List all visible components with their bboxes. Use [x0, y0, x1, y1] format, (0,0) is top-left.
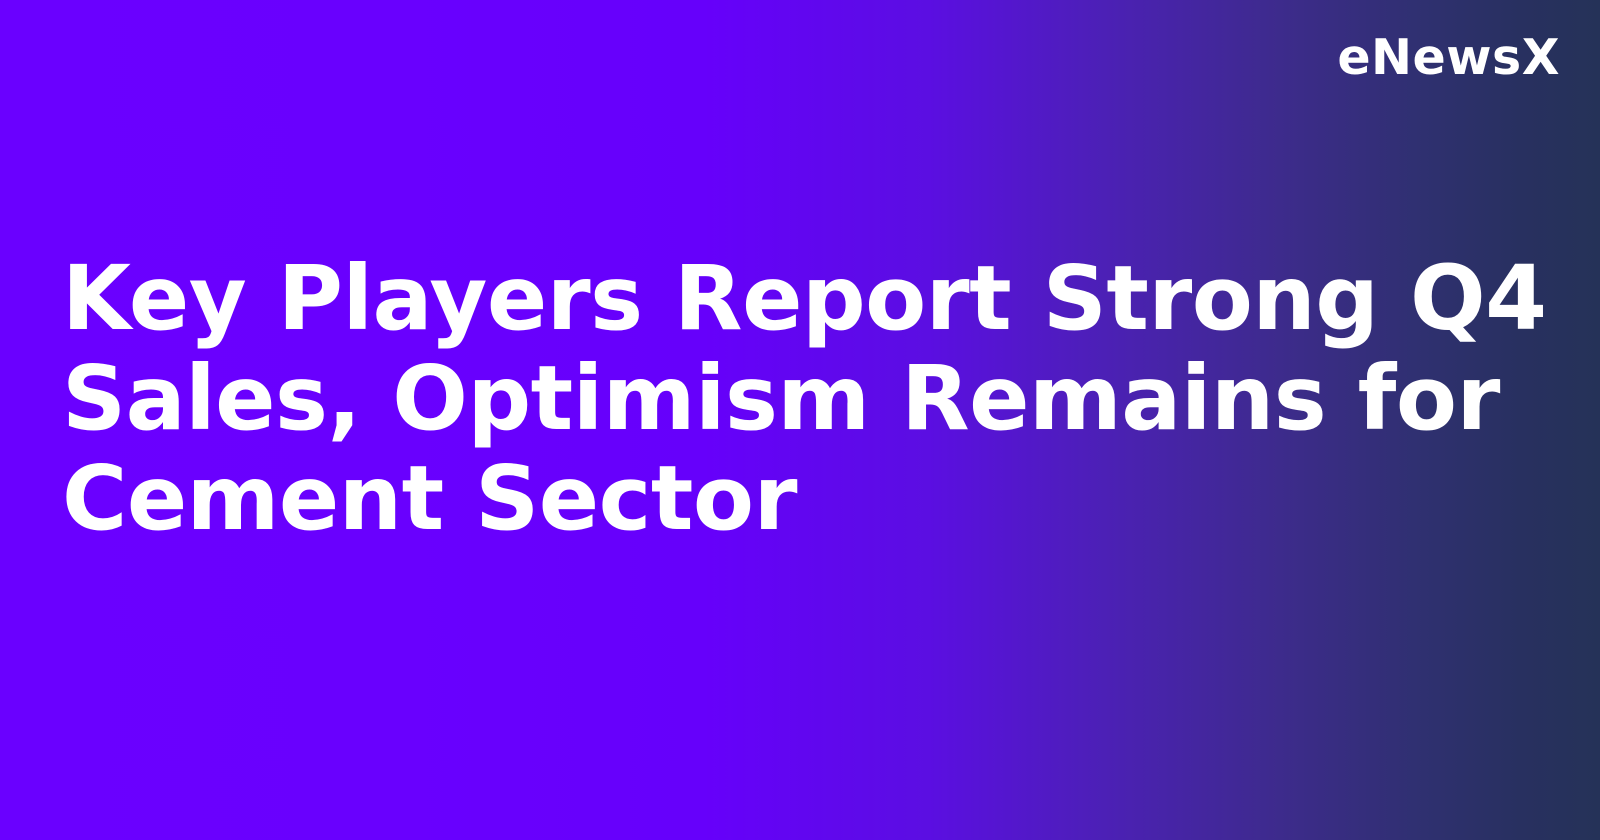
headline-line-3: Cement Sector — [62, 448, 1502, 548]
news-card: eNewsX Key Players Report Strong Q4 Sale… — [0, 0, 1600, 840]
headline-line-2: Sales, Optimism Remains for — [62, 348, 1502, 448]
brand-logo[interactable]: eNewsX — [1337, 33, 1560, 82]
headline-line-1: Key Players Report Strong Q4 — [62, 248, 1502, 348]
headline-block: Key Players Report Strong Q4 Sales, Opti… — [62, 248, 1502, 548]
page-title: Key Players Report Strong Q4 Sales, Opti… — [62, 248, 1502, 548]
